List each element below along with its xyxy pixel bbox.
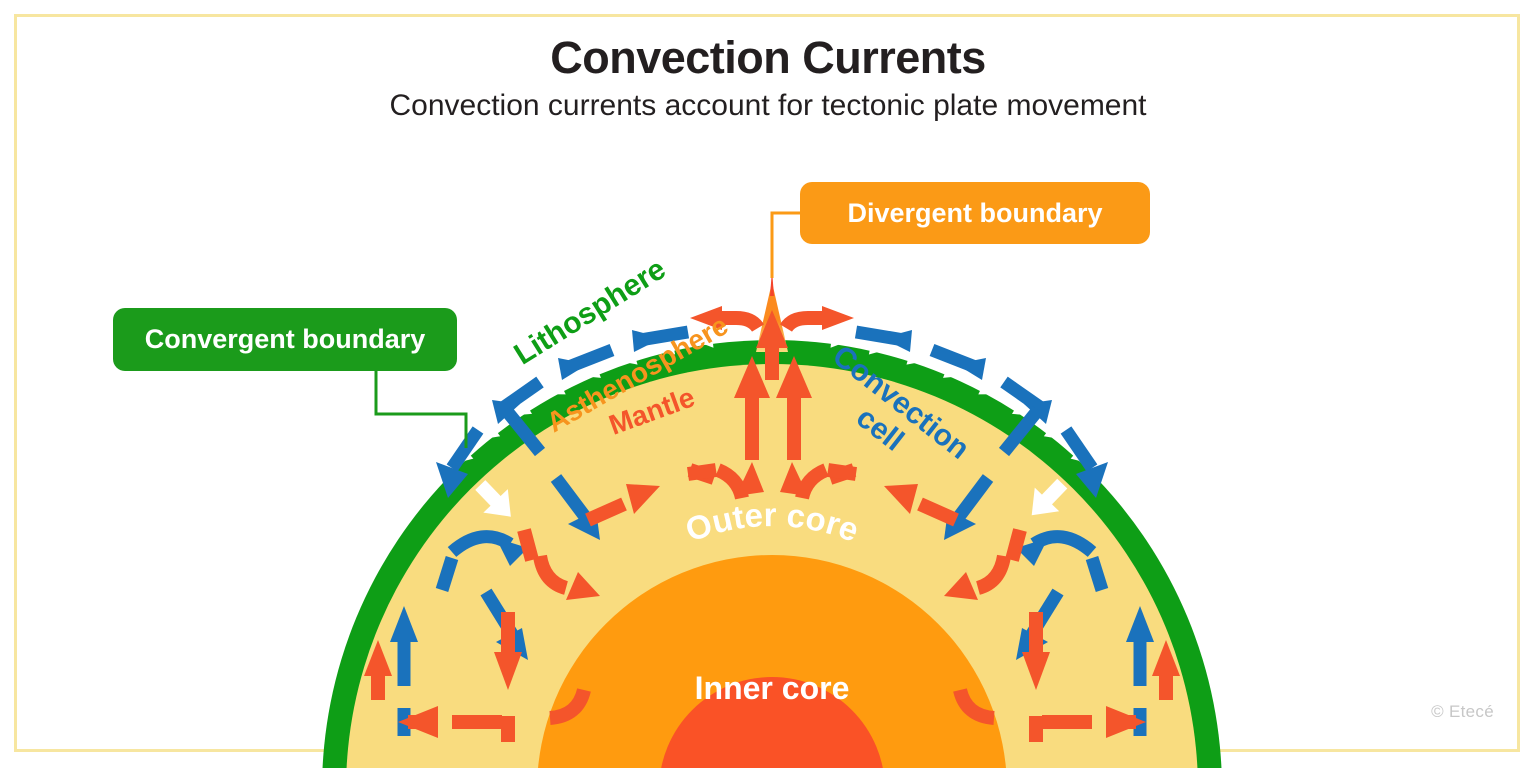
- callout-divergent-label: Divergent boundary: [847, 198, 1102, 229]
- watermark: © Etecé: [1431, 702, 1494, 722]
- connector-divergent: [772, 213, 800, 278]
- hot-arrow-split-right: [786, 306, 854, 330]
- earth-cross-section: Lithosphere Asthenosphere Mantle Convect…: [0, 0, 1536, 768]
- callout-convergent-boundary[interactable]: Convergent boundary: [113, 308, 457, 371]
- callout-divergent-boundary[interactable]: Divergent boundary: [800, 182, 1150, 244]
- callout-convergent-label: Convergent boundary: [145, 324, 426, 355]
- connector-convergent: [376, 371, 466, 448]
- label-inner-core: Inner core: [695, 670, 850, 706]
- diagram-canvas: Convection Currents Convection currents …: [0, 0, 1536, 768]
